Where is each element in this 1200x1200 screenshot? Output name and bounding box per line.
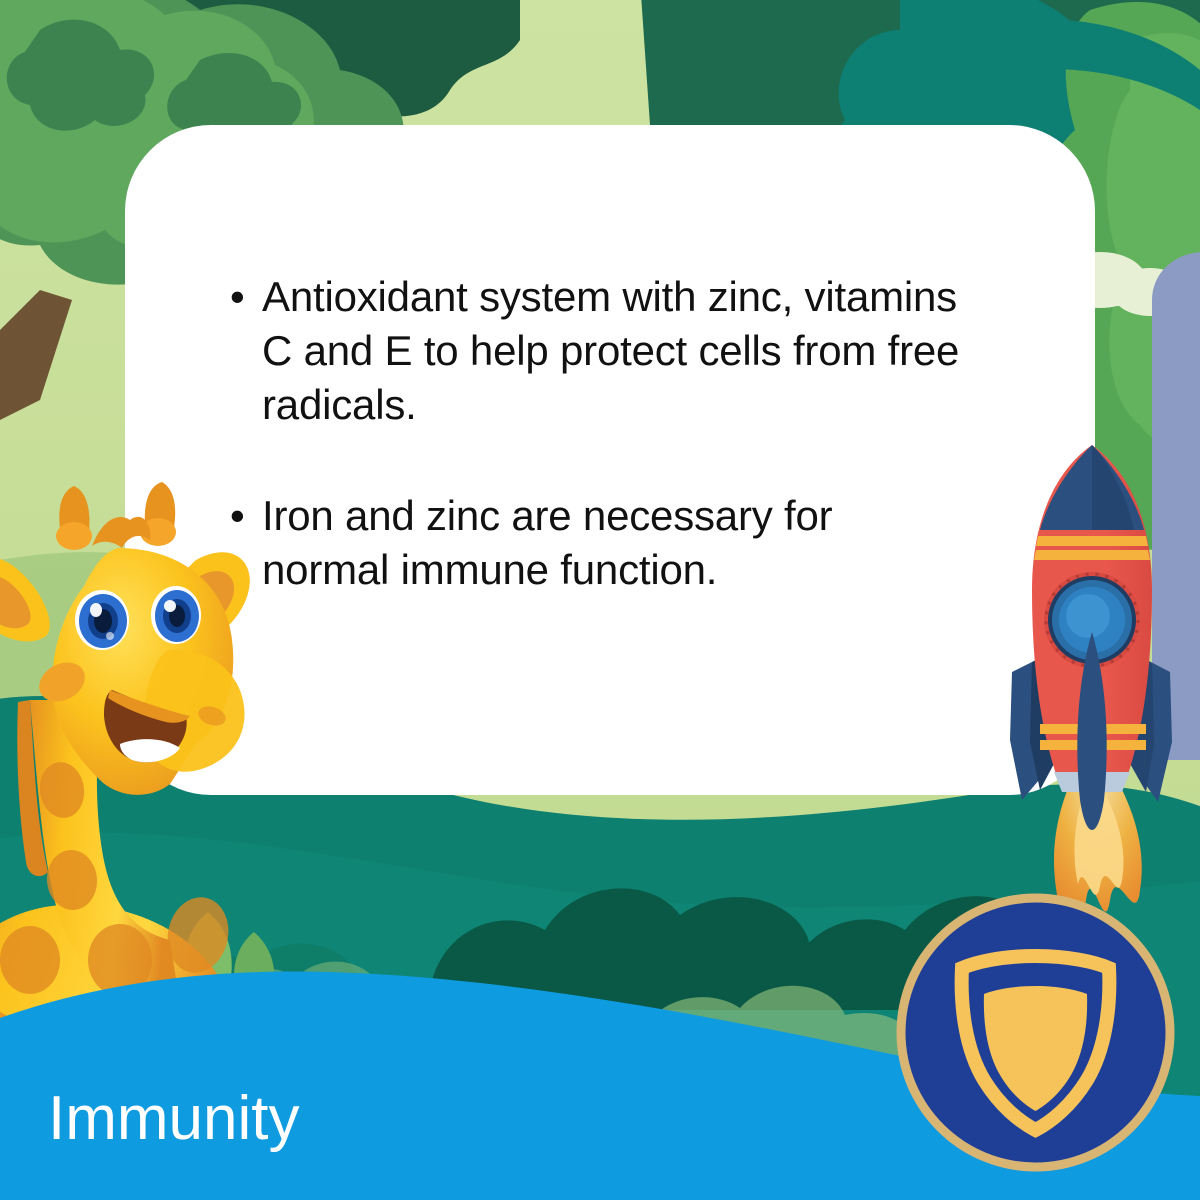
slide-canvas: • Antioxidant system with zinc, vitamins… (0, 0, 1200, 1200)
page-title: Immunity (48, 1083, 299, 1154)
shield-icon[interactable] (893, 890, 1178, 1175)
